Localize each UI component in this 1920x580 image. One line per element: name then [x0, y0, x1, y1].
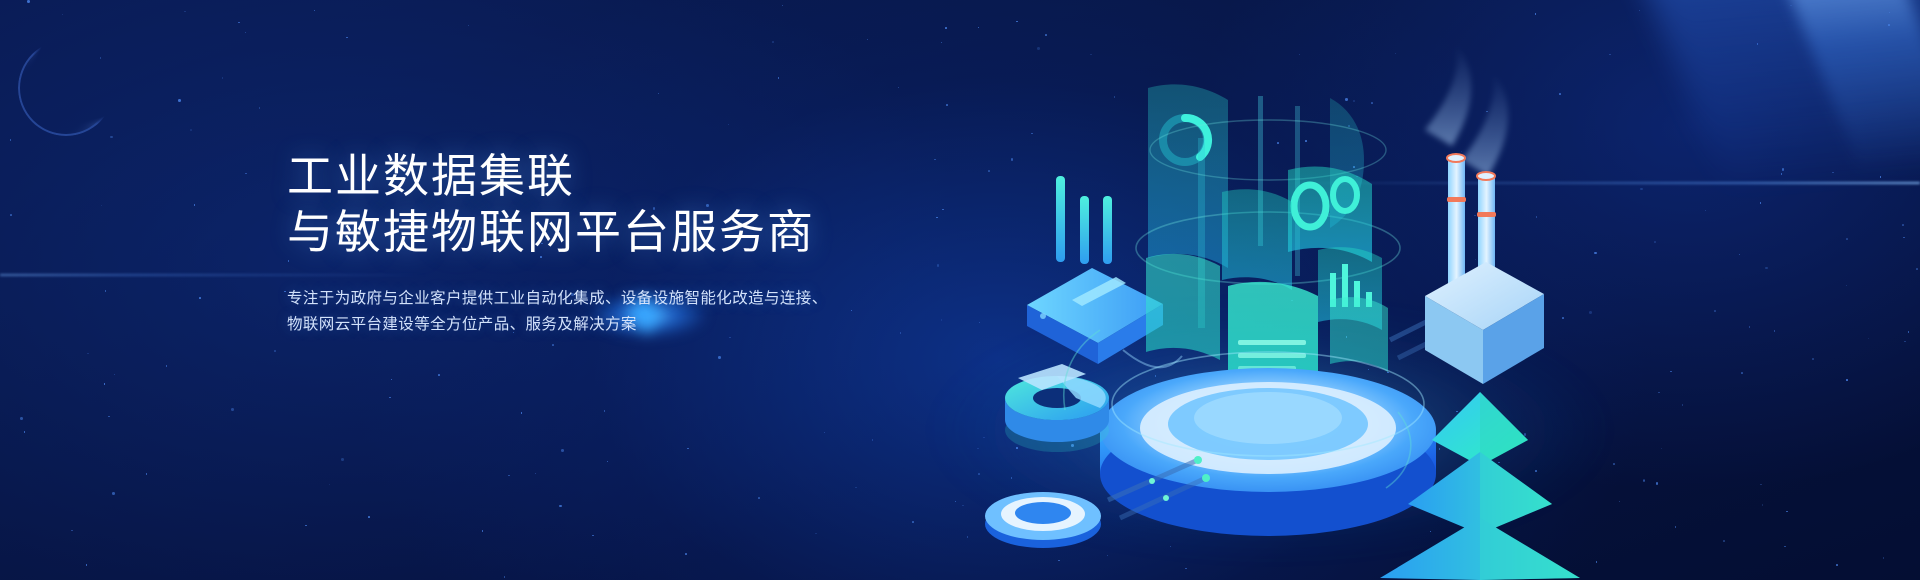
headline-line-2: 与敏捷物联网平台服务商 [287, 204, 1047, 260]
subtitle-line-2: 物联网云平台建设等全方位产品、服务及解决方案 [287, 312, 1047, 338]
hero-copy: 工业数据集联 与敏捷物联网平台服务商 专注于为政府与企业客户提供工业自动化集成、… [287, 148, 1047, 338]
glass-panel-front-right [1330, 297, 1388, 372]
router-antenna [1080, 196, 1089, 264]
glass-data-panels [1136, 84, 1400, 384]
subtitle-line-1: 专注于为政府与企业客户提供工业自动化集成、设备设施智能化改造与连接、 [287, 286, 1047, 312]
smoke-plume [1425, 44, 1471, 146]
connector-node [1202, 474, 1210, 482]
glass-panel-back-left [1148, 84, 1228, 268]
glass-panel-mid-right [1288, 166, 1372, 262]
router-antenna [1056, 176, 1065, 262]
pyramid-tier-base-shade [1480, 518, 1580, 580]
platform-core [1194, 392, 1342, 444]
router-antenna [1103, 196, 1112, 264]
connector-node [1194, 456, 1202, 464]
glass-panel-mid-left [1222, 189, 1292, 290]
connector-dot [1163, 495, 1169, 501]
ring-disc [985, 492, 1101, 548]
stack-band [1447, 197, 1466, 202]
factory-smokestacks [1425, 44, 1544, 384]
glass-panel-front-left [1146, 254, 1220, 360]
headline-line-1: 工业数据集联 [287, 148, 1047, 204]
disc-center [1015, 502, 1071, 524]
data-line [1238, 340, 1306, 345]
stack-band [1477, 212, 1496, 217]
connector-dot [1149, 478, 1155, 484]
hero-banner: 工业数据集联 与敏捷物联网平台服务商 专注于为政府与企业客户提供工业自动化集成、… [0, 0, 1920, 580]
data-line [1238, 353, 1306, 358]
